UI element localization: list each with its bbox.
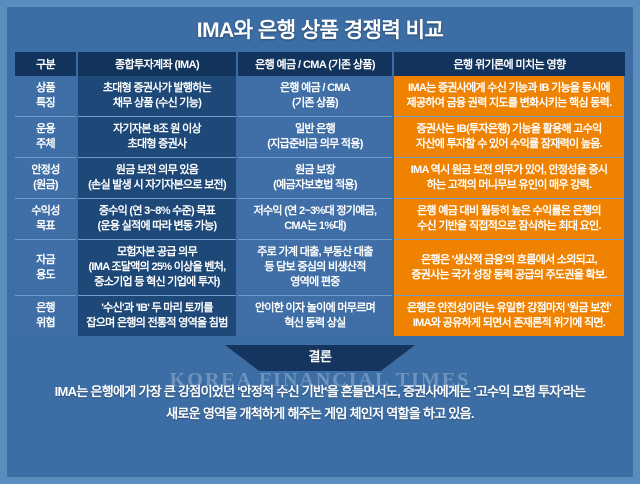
cell-line: 증권사는 IB(투자은행) 기능을 활용해 고수익 (398, 122, 620, 137)
cell-bank: 안이한 이자 놀이에 머무르며 혁신 동력 상실 (237, 296, 393, 337)
cell-line: IMA는 증권사에게 수신 기능과 IB 기능을 동시에 (398, 81, 620, 96)
row-category: 자금 용도 (15, 240, 77, 296)
cell-line: 주로 가계 대출, 부동산 대출 (242, 245, 388, 260)
column-header-impact: 은행 위기론에 미치는 영향 (393, 52, 625, 76)
conclusion-text: IMA는 은행에게 가장 큰 강점이었던 '안정적 수신 기반'을 흔들면서도,… (15, 381, 625, 425)
table-row: 자금 용도 모험자본 공급 의무 (IMA 조달액의 25% 이상을 벤처, 중… (15, 240, 625, 296)
table-row: 수익성 목표 중수익 (연 3~8% 수준) 목표 (운용 실적에 따라 변동 … (15, 199, 625, 240)
cell-line: 중소기업 등 혁신 기업에 투자) (82, 275, 232, 290)
row-category-line: 수익성 (19, 204, 72, 219)
cell-line: 저수익 (연 2~3%대 정기예금, (242, 204, 388, 219)
conclusion-line: IMA는 은행에게 가장 큰 강점이었던 '안정적 수신 기반'을 흔들면서도,… (15, 381, 625, 403)
cell-line: 원금 보장 (242, 163, 388, 178)
table-header-row: 구분 종합투자계좌 (IMA) 은행 예금 / CMA (기존 상품) 은행 위… (15, 52, 625, 76)
cell-impact: 증권사는 IB(투자은행) 기능을 활용해 고수익 자산에 투자할 수 있어 수… (393, 117, 625, 158)
row-category-line: 자금 (19, 253, 72, 268)
cell-line: IMA와 공유하게 되면서 존재론적 위기에 직면. (398, 316, 620, 331)
row-category: 은행 위협 (15, 296, 77, 337)
infographic-panel: IMA와 은행 상품 경쟁력 비교 구분 종합투자계좌 (IMA) 은행 예금 … (7, 7, 633, 477)
cell-line: 원금 보전 의무 있음 (82, 163, 232, 178)
row-category: 상품 특징 (15, 76, 77, 117)
cell-line: '수신'과 'IB' 두 마리 토끼를 (82, 301, 232, 316)
cell-ima: '수신'과 'IB' 두 마리 토끼를 잡으며 은행의 전통적 영역을 침범 (77, 296, 237, 337)
cell-line: (손실 발생 시 자기자본으로 보전) (82, 178, 232, 193)
cell-line: (예금자보호법 적용) (242, 178, 388, 193)
cell-line: 안이한 이자 놀이에 머무르며 (242, 301, 388, 316)
column-header-bank: 은행 예금 / CMA (기존 상품) (237, 52, 393, 76)
cell-line: 모험자본 공급 의무 (82, 245, 232, 260)
row-category-line: 상품 (19, 81, 72, 96)
cell-line: 등 담보 중심의 비생산적 (242, 260, 388, 275)
cell-line: 은행 예금 대비 월등히 높은 수익률은 은행의 (398, 204, 620, 219)
cell-line: 은행은 '생산적 금융'의 흐름에서 소외되고, (398, 253, 620, 268)
row-category-line: 위협 (19, 316, 72, 331)
cell-impact: IMA는 증권사에게 수신 기능과 IB 기능을 동시에 제공하여 금융 권력 … (393, 76, 625, 117)
cell-line: 수신 기반을 직접적으로 잠식하는 최대 요인. (398, 219, 620, 234)
table-row: 상품 특징 초대형 증권사가 발행하는 채무 상품 (수신 기능) 은행 예금 … (15, 76, 625, 117)
cell-impact: 은행 예금 대비 월등히 높은 수익률은 은행의 수신 기반을 직접적으로 잠식… (393, 199, 625, 240)
cell-ima: 초대형 증권사가 발행하는 채무 상품 (수신 기능) (77, 76, 237, 117)
cell-line: 일반 은행 (242, 122, 388, 137)
table-row: 운용 주체 자기자본 8조 원 이상 초대형 증권사 일반 은행 (지급준비금 … (15, 117, 625, 158)
row-category-line: 용도 (19, 268, 72, 283)
cell-line: 은행은 안전성이라는 유일한 강점마저 '원금 보전' (398, 301, 620, 316)
cell-line: (운용 실적에 따라 변동 가능) (82, 219, 232, 234)
row-category: 안정성 (원금) (15, 158, 77, 199)
cell-ima: 원금 보전 의무 있음 (손실 발생 시 자기자본으로 보전) (77, 158, 237, 199)
cell-line: 잡으며 은행의 전통적 영역을 침범 (82, 316, 232, 331)
cell-line: CMA는 1%대) (242, 219, 388, 234)
cell-line: 자기자본 8조 원 이상 (82, 122, 232, 137)
cell-line: 증권사는 국가 성장 동력 공급의 주도권을 확보. (398, 268, 620, 283)
conclusion-banner: 결론 (225, 345, 415, 371)
page-title: IMA와 은행 상품 경쟁력 비교 (15, 13, 625, 52)
row-category-line: 목표 (19, 219, 72, 234)
cell-ima: 중수익 (연 3~8% 수준) 목표 (운용 실적에 따라 변동 가능) (77, 199, 237, 240)
cell-bank: 일반 은행 (지급준비금 의무 적용) (237, 117, 393, 158)
row-category-line: (원금) (19, 178, 72, 193)
cell-bank: 주로 가계 대출, 부동산 대출 등 담보 중심의 비생산적 영역에 편중 (237, 240, 393, 296)
row-category-line: 은행 (19, 301, 72, 316)
cell-line: 제공하여 금융 권력 지도를 변화시키는 핵심 동력. (398, 96, 620, 111)
cell-impact: IMA 역시 원금 보전 의무가 있어, 안정성을 중시 하는 고객의 머니무브… (393, 158, 625, 199)
row-category-line: 주체 (19, 137, 72, 152)
cell-line: IMA 역시 원금 보전 의무가 있어, 안정성을 중시 (398, 163, 620, 178)
cell-line: (IMA 조달액의 25% 이상을 벤처, (82, 260, 232, 275)
cell-line: 하는 고객의 머니무브 유인이 매우 강력. (398, 178, 620, 193)
cell-ima: 모험자본 공급 의무 (IMA 조달액의 25% 이상을 벤처, 중소기업 등 … (77, 240, 237, 296)
row-category-line: 특징 (19, 96, 72, 111)
cell-line: 영역에 편중 (242, 275, 388, 290)
cell-line: 초대형 증권사가 발행하는 (82, 81, 232, 96)
cell-line: 중수익 (연 3~8% 수준) 목표 (82, 204, 232, 219)
cell-line: 자산에 투자할 수 있어 수익률 잠재력이 높음. (398, 137, 620, 152)
row-category: 운용 주체 (15, 117, 77, 158)
cell-impact: 은행은 안전성이라는 유일한 강점마저 '원금 보전' IMA와 공유하게 되면… (393, 296, 625, 337)
column-header-category: 구분 (15, 52, 77, 76)
row-category-line: 안정성 (19, 163, 72, 178)
infographic-page: IMA와 은행 상품 경쟁력 비교 구분 종합투자계좌 (IMA) 은행 예금 … (0, 0, 640, 484)
cell-line: 초대형 증권사 (82, 137, 232, 152)
table-row: 은행 위협 '수신'과 'IB' 두 마리 토끼를 잡으며 은행의 전통적 영역… (15, 296, 625, 337)
row-category-line: 운용 (19, 122, 72, 137)
conclusion-section: 결론 KOREA FINANCIAL TIMES IMA는 은행에게 가장 큰 … (15, 345, 625, 431)
conclusion-line: 새로운 영역을 개척하게 해주는 게임 체인저 역할을 하고 있음. (15, 403, 625, 425)
cell-line: (기존 상품) (242, 96, 388, 111)
table-row: 안정성 (원금) 원금 보전 의무 있음 (손실 발생 시 자기자본으로 보전)… (15, 158, 625, 199)
cell-bank: 원금 보장 (예금자보호법 적용) (237, 158, 393, 199)
column-header-ima: 종합투자계좌 (IMA) (77, 52, 237, 76)
cell-bank: 은행 예금 / CMA (기존 상품) (237, 76, 393, 117)
cell-bank: 저수익 (연 2~3%대 정기예금, CMA는 1%대) (237, 199, 393, 240)
cell-impact: 은행은 '생산적 금융'의 흐름에서 소외되고, 증권사는 국가 성장 동력 공… (393, 240, 625, 296)
comparison-table: 구분 종합투자계좌 (IMA) 은행 예금 / CMA (기존 상품) 은행 위… (15, 52, 626, 336)
cell-line: 은행 예금 / CMA (242, 81, 388, 96)
cell-line: 혁신 동력 상실 (242, 316, 388, 331)
cell-ima: 자기자본 8조 원 이상 초대형 증권사 (77, 117, 237, 158)
row-category: 수익성 목표 (15, 199, 77, 240)
cell-line: (지급준비금 의무 적용) (242, 137, 388, 152)
cell-line: 채무 상품 (수신 기능) (82, 96, 232, 111)
